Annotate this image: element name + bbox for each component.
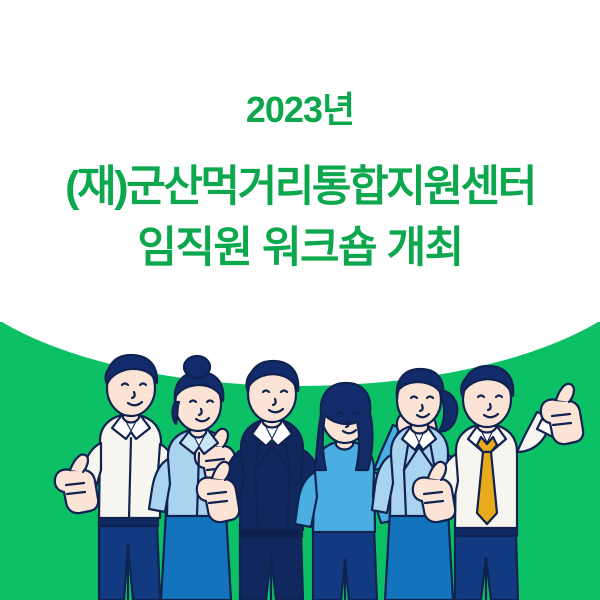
title-line-2: 임직원 워크숍 개최 — [0, 222, 600, 274]
title-year: 2023년 — [0, 88, 600, 132]
poster-card: 2023년 (재)군산먹거리통합지원센터 임직원 워크숍 개최 — [0, 0, 600, 600]
title-line-1: (재)군산먹거리통합지원센터 — [0, 161, 600, 213]
